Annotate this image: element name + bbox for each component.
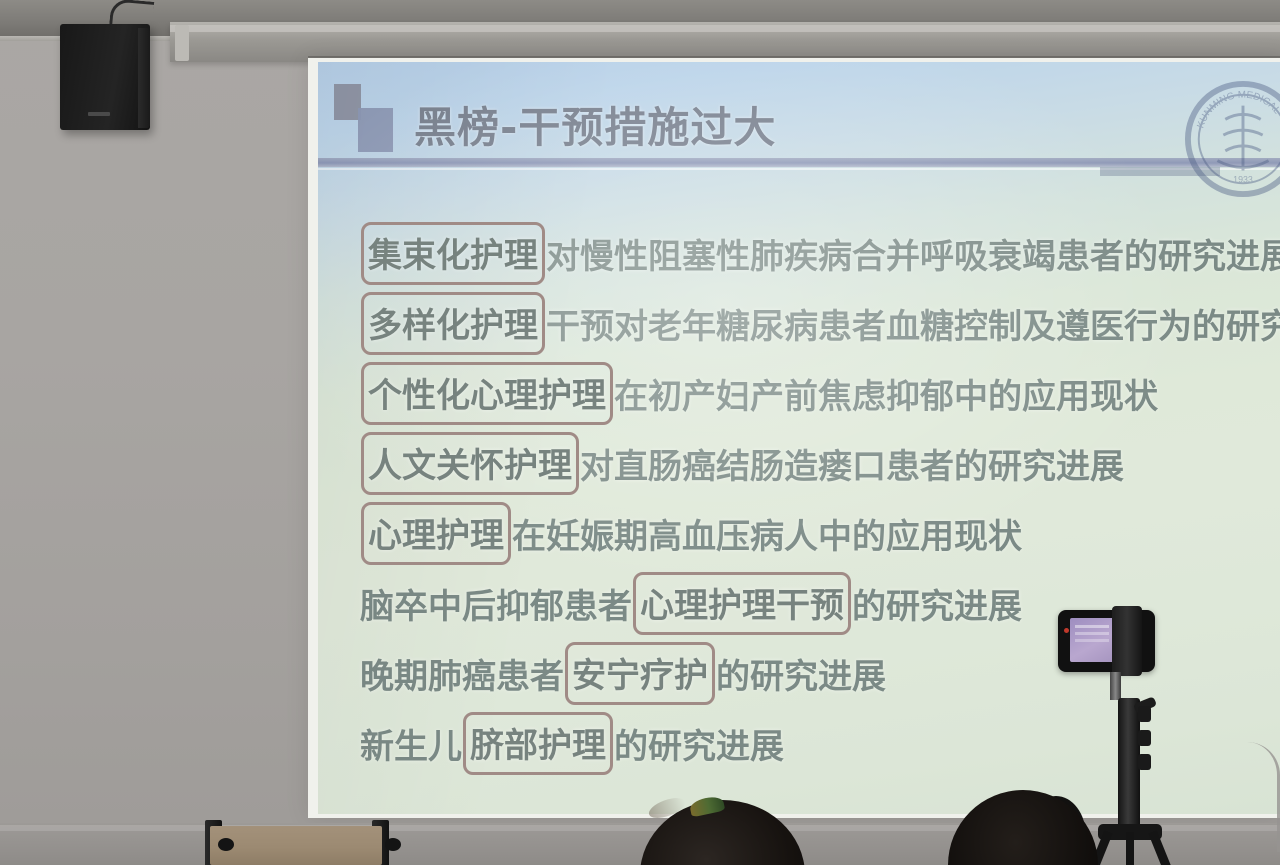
tripod-knob bbox=[1138, 754, 1151, 770]
title-divider bbox=[318, 158, 1280, 167]
speaker-logo bbox=[88, 112, 110, 116]
chair-knob bbox=[218, 838, 234, 851]
highlighted-term: 心理护理干预 bbox=[633, 572, 851, 635]
highlighted-term: 脐部护理 bbox=[463, 712, 613, 775]
highlighted-term: 安宁疗护 bbox=[565, 642, 715, 705]
chair-knob bbox=[385, 838, 401, 851]
hanging-cable bbox=[1247, 742, 1280, 852]
lecture-room-photo: 黑榜-干预措施过大 1933 KUNMING MEDICAL 集束化护理对慢性阻… bbox=[0, 0, 1280, 865]
university-logo: 1933 KUNMING MEDICAL bbox=[1184, 80, 1280, 198]
line-text: 的研究进展 bbox=[716, 649, 886, 698]
wall-speaker-side bbox=[138, 28, 150, 128]
tripod-knob bbox=[1138, 706, 1151, 722]
highlighted-term: 集束化护理 bbox=[361, 222, 545, 285]
decorative-square-small-icon bbox=[334, 84, 361, 120]
line-text: 在初产妇产前焦虑抑郁中的应用现状 bbox=[614, 369, 1158, 418]
list-item: 人文关怀护理对直肠癌结肠造瘘口患者的研究进展 bbox=[360, 428, 1272, 498]
line-text: 的研究进展 bbox=[852, 579, 1022, 628]
line-text: 新生儿 bbox=[360, 719, 462, 768]
tripod-leg bbox=[1126, 832, 1134, 865]
line-text: 在妊娠期高血压病人中的应用现状 bbox=[512, 509, 1022, 558]
decorative-square-large-icon bbox=[358, 108, 393, 152]
line-text: 脑卒中后抑郁患者 bbox=[360, 579, 632, 628]
tripod-head bbox=[1110, 672, 1121, 700]
slide-header: 黑榜-干预措施过大 bbox=[318, 62, 1280, 158]
recording-indicator-icon bbox=[1064, 628, 1069, 633]
highlighted-term: 人文关怀护理 bbox=[361, 432, 579, 495]
phone-clamp bbox=[1112, 606, 1142, 676]
line-text: 干预对老年糖尿病患者血糖控制及遵医行为的研究进展 bbox=[546, 299, 1280, 348]
list-item: 集束化护理对慢性阻塞性肺疾病合并呼吸衰竭患者的研究进展 bbox=[360, 218, 1272, 288]
highlighted-term: 心理护理 bbox=[361, 502, 511, 565]
list-item: 个性化心理护理在初产妇产前焦虑抑郁中的应用现状 bbox=[360, 358, 1272, 428]
line-text: 晚期肺癌患者 bbox=[360, 649, 564, 698]
line-text: 对直肠癌结肠造瘘口患者的研究进展 bbox=[580, 439, 1124, 488]
tripod-knob bbox=[1138, 730, 1151, 746]
slide-title: 黑榜-干预措施过大 bbox=[414, 94, 776, 155]
list-item: 心理护理在妊娠期高血压病人中的应用现状 bbox=[360, 498, 1272, 568]
highlighted-term: 多样化护理 bbox=[361, 292, 545, 355]
list-item: 多样化护理干预对老年糖尿病患者血糖控制及遵医行为的研究进展 bbox=[360, 288, 1272, 358]
valance-bracket bbox=[175, 25, 189, 61]
svg-text:1933: 1933 bbox=[1233, 174, 1253, 184]
line-text: 对慢性阻塞性肺疾病合并呼吸衰竭患者的研究进展 bbox=[546, 229, 1280, 278]
valance-lip bbox=[170, 25, 1280, 32]
highlighted-term: 个性化心理护理 bbox=[361, 362, 613, 425]
slide-body-list: 集束化护理对慢性阻塞性肺疾病合并呼吸衰竭患者的研究进展 多样化护理干预对老年糖尿… bbox=[360, 218, 1272, 778]
tripod-column bbox=[1118, 698, 1140, 828]
line-text: 的研究进展 bbox=[614, 719, 784, 768]
chair-back bbox=[210, 826, 382, 865]
